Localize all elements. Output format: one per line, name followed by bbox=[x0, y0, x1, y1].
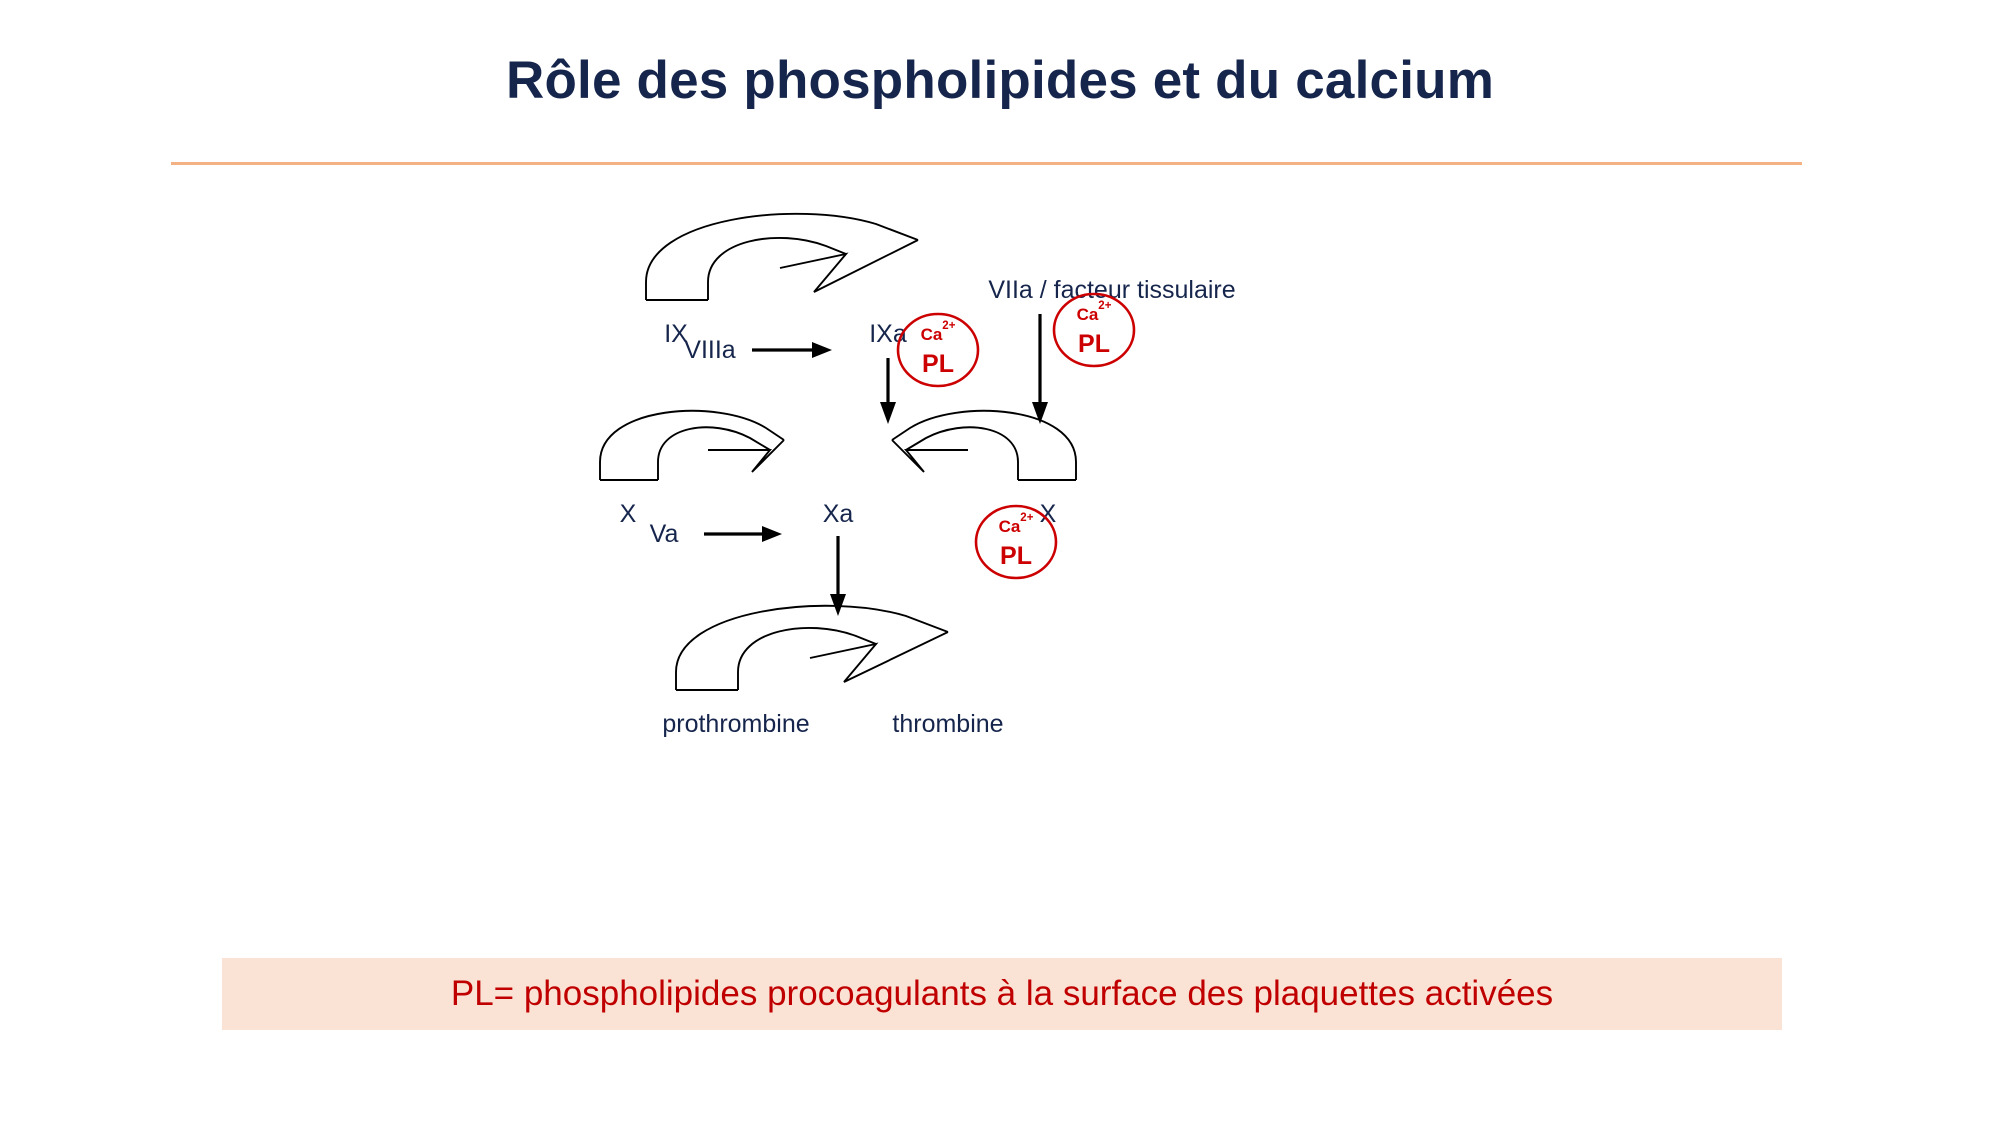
caption-banner: PL= phospholipides procoagulants à la su… bbox=[222, 958, 1782, 1030]
coagulation-cascade-diagram: IX IXa VIIa / facteur tissulaire VIIIa C… bbox=[600, 230, 1400, 910]
arrow-xa-to-thrombine bbox=[830, 536, 846, 616]
arc-x-right-to-xa bbox=[892, 411, 1076, 480]
ca-ion-label-lower: Ca2+ bbox=[999, 512, 1034, 536]
ca-ion-label-upper-left: Ca2+ bbox=[921, 320, 956, 344]
arrow-viia-to-xa bbox=[1032, 314, 1048, 424]
arc-ix-to-ixa bbox=[646, 214, 918, 300]
pl-complex-upper-left: Ca2+ PL bbox=[898, 314, 978, 386]
title-divider bbox=[171, 162, 1802, 165]
cofactor-label-va: Va bbox=[650, 520, 679, 548]
arrow-ixa-to-xa bbox=[880, 358, 896, 424]
arrow-va-in bbox=[704, 526, 782, 542]
source-label-viia-tf: VIIa / facteur tissulaire bbox=[988, 276, 1235, 304]
node-label-xa: Xa bbox=[823, 500, 854, 528]
node-label-prothrombine: prothrombine bbox=[662, 710, 809, 738]
pl-label-upper-right: PL bbox=[1078, 330, 1110, 358]
node-label-x-left: X bbox=[620, 500, 637, 528]
pl-label-lower: PL bbox=[1000, 542, 1032, 570]
pl-label-upper-left: PL bbox=[922, 350, 954, 378]
pl-complex-lower: Ca2+ PL bbox=[976, 506, 1056, 578]
cofactor-label-viiia: VIIIa bbox=[684, 336, 736, 364]
arc-prothrombine-to-thrombine bbox=[676, 606, 948, 690]
caption-text: PL= phospholipides procoagulants à la su… bbox=[451, 974, 1553, 1014]
arrow-viiia-in bbox=[752, 342, 832, 358]
node-label-thrombine: thrombine bbox=[892, 710, 1003, 738]
pl-complex-upper-right: Ca2+ PL bbox=[1054, 294, 1134, 366]
arc-x-left-to-xa bbox=[600, 411, 784, 480]
page-title: Rôle des phospholipides et du calcium bbox=[0, 52, 2000, 110]
